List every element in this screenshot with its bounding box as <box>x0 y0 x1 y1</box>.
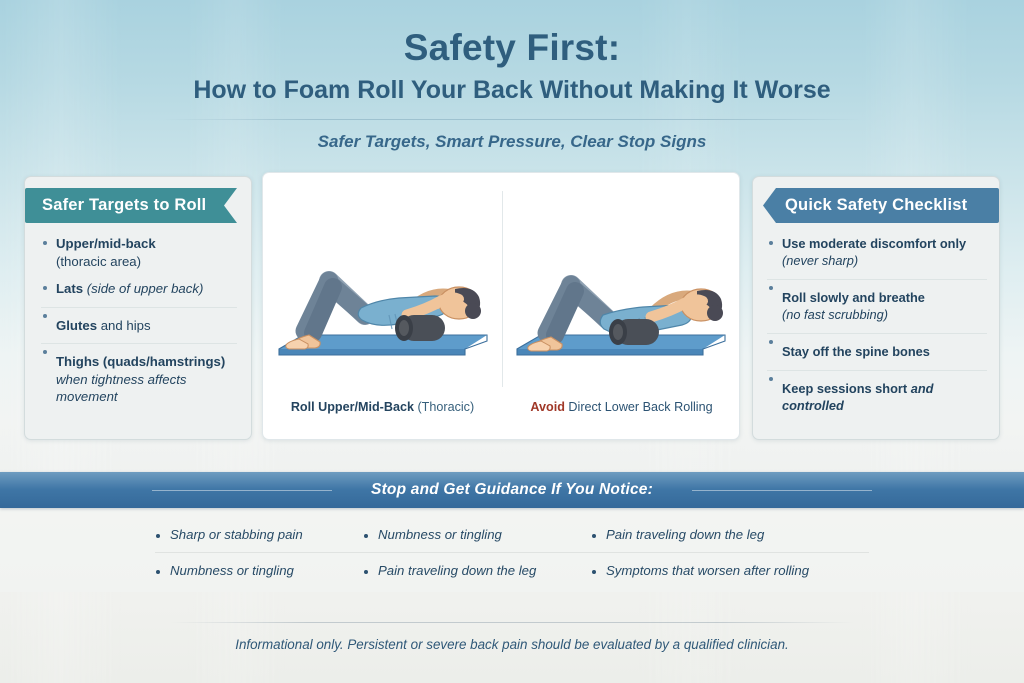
warning-row-divider: Symptoms that worsen after rolling <box>591 552 869 588</box>
list-item-plain: (quads/hamstrings) <box>99 354 225 369</box>
warning-item: Pain traveling down the leg <box>591 527 869 542</box>
warning-band-title: Stop and Get Guidance If You Notice: <box>359 481 665 499</box>
list-item-subline: when tightness affects movement <box>56 371 237 406</box>
person-foam-rolling-upper-back-icon <box>269 203 497 379</box>
list-item-strong: Roll slowly and breathe <box>782 290 925 305</box>
header: Safety First: How to Foam Roll Your Back… <box>0 26 1024 152</box>
list-item: Upper/mid-back (thoracic area) <box>41 235 237 270</box>
caption-left: Roll Upper/Mid-Back (Thoracic) <box>263 400 502 415</box>
warning-item: Symptoms that worsen after rolling <box>591 563 809 578</box>
quick-safety-checklist-ribbon-label: Quick Safety Checklist <box>785 196 967 215</box>
warning-item: Numbness or tingling <box>363 527 591 542</box>
foam-roller <box>609 319 659 345</box>
foam-roller <box>395 315 445 341</box>
list-item-plain: and hips <box>97 318 151 333</box>
safer-targets-ribbon: Safer Targets to Roll <box>25 188 237 223</box>
list-item: Thighs (quads/hamstrings) when tightness… <box>41 343 237 406</box>
illustration-left <box>269 203 497 379</box>
page-subtitle: How to Foam Roll Your Back Without Makin… <box>0 74 1024 107</box>
list-item-strong: Stay off the spine bones <box>782 344 930 359</box>
warning-item: Numbness or tingling <box>155 563 294 578</box>
safer-targets-panel: Safer Targets to Roll Upper/mid-back (th… <box>24 176 252 440</box>
person-foam-rolling-lower-back-icon <box>507 203 735 379</box>
footer-disclaimer: Informational only. Persistent or severe… <box>0 637 1024 652</box>
quick-safety-checklist-ribbon: Quick Safety Checklist <box>763 188 999 223</box>
list-item-subline: (thoracic area) <box>56 253 237 271</box>
quick-safety-checklist-panel: Quick Safety Checklist Use moderate disc… <box>752 176 1000 440</box>
warning-band: Stop and Get Guidance If You Notice: Sha… <box>0 472 1024 592</box>
footer-divider <box>170 622 854 623</box>
warning-row-divider: Numbness or tingling <box>155 552 363 588</box>
header-divider <box>162 119 862 120</box>
list-item: Stay off the spine bones <box>767 333 987 360</box>
list-item-strong: Lats <box>56 281 83 296</box>
list-item-subline: (no fast scrubbing) <box>782 306 987 323</box>
list-item-strong: Upper/mid-back <box>56 236 156 251</box>
illustration-divider <box>502 191 503 387</box>
warning-row-divider: Pain traveling down the leg <box>363 552 591 588</box>
list-item-strong: Keep sessions short <box>782 381 907 396</box>
safer-targets-list: Upper/mid-back (thoracic area) Lats (sid… <box>25 223 251 406</box>
infographic-page: Safety First: How to Foam Roll Your Back… <box>0 0 1024 683</box>
list-item: Glutes and hips <box>41 307 237 335</box>
list-item-plain: (side of upper back) <box>83 281 203 296</box>
caption-right-avoid: Avoid <box>530 400 565 414</box>
illustration-card: Roll Upper/Mid-Back (Thoracic) Avoid Dir… <box>262 172 740 440</box>
caption-right: Avoid Direct Lower Back Rolling <box>502 400 741 415</box>
list-item: Lats (side of upper back) <box>41 280 237 298</box>
list-item: Keep sessions short and controlled <box>767 370 987 414</box>
illustration-captions: Roll Upper/Mid-Back (Thoracic) Avoid Dir… <box>263 400 741 415</box>
list-item-strong: Thighs <box>56 354 99 369</box>
caption-right-rest: Direct Lower Back Rolling <box>565 400 713 414</box>
quick-safety-checklist-list: Use moderate discomfort only (never shar… <box>753 223 999 414</box>
page-tagline: Safer Targets, Smart Pressure, Clear Sto… <box>0 132 1024 152</box>
list-item-strong: Use moderate discomfort only <box>782 236 966 251</box>
list-item-subline: (never sharp) <box>782 252 987 269</box>
caption-left-bold: Roll Upper/Mid-Back <box>291 400 414 414</box>
warning-symptom-grid: Sharp or stabbing pain Numbness or tingl… <box>155 516 869 588</box>
page-title: Safety First: <box>0 26 1024 70</box>
warning-band-header: Stop and Get Guidance If You Notice: <box>0 472 1024 508</box>
list-item: Roll slowly and breathe (no fast scrubbi… <box>767 279 987 323</box>
warning-item: Sharp or stabbing pain <box>155 527 363 542</box>
list-item-strong: Glutes <box>56 318 97 333</box>
warning-item: Pain traveling down the leg <box>363 563 536 578</box>
caption-left-light: (Thoracic) <box>414 400 474 414</box>
illustration-right <box>507 203 735 379</box>
list-item: Use moderate discomfort only (never shar… <box>767 235 987 269</box>
safer-targets-ribbon-label: Safer Targets to Roll <box>42 196 206 215</box>
